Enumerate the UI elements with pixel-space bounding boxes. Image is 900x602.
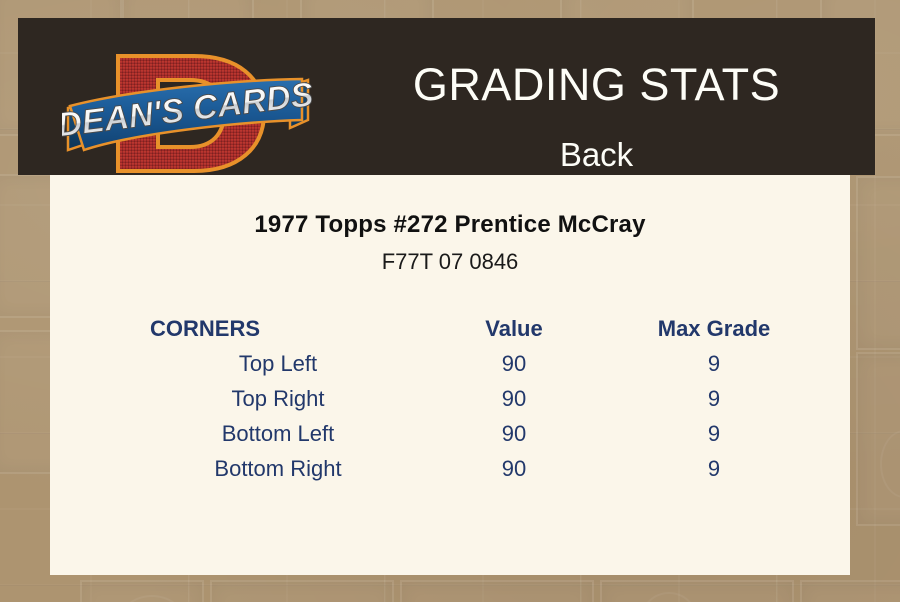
- grading-stats-table: CORNERS Value Max Grade Top Left 90 9 To…: [142, 311, 814, 486]
- row-label: Bottom Right: [142, 451, 414, 486]
- page-title: GRADING STATS: [318, 60, 875, 110]
- row-value: 90: [414, 451, 614, 486]
- card-title: 1977 Topps #272 Prentice McCray: [50, 211, 850, 239]
- background-card-tile: [400, 580, 594, 602]
- table-row: Bottom Right 90 9: [142, 451, 814, 486]
- column-header-value: Value: [414, 311, 614, 346]
- table-row: Top Left 90 9: [142, 346, 814, 381]
- background-card-tile: [856, 176, 900, 350]
- row-label: Bottom Left: [142, 416, 414, 451]
- row-max-grade: 9: [614, 451, 814, 486]
- row-max-grade: 9: [614, 416, 814, 451]
- background-card-tile: [210, 580, 394, 602]
- card-serial-number: F77T 07 0846: [50, 249, 850, 275]
- row-label: Top Right: [142, 381, 414, 416]
- table-row: Bottom Left 90 9: [142, 416, 814, 451]
- row-max-grade: 9: [614, 381, 814, 416]
- column-header-corners: CORNERS: [142, 311, 414, 346]
- row-value: 90: [414, 381, 614, 416]
- row-value: 90: [414, 346, 614, 381]
- content-panel: 1977 Topps #272 Prentice McCray F77T 07 …: [50, 175, 850, 575]
- page-subtitle: Back: [318, 136, 875, 174]
- background-card-tile: [800, 580, 900, 602]
- grading-stats-page: DEAN'S CARDS GRADING STATS Back 1977 Top…: [0, 0, 900, 602]
- table-header-row: CORNERS Value Max Grade: [142, 311, 814, 346]
- header-band: DEAN'S CARDS GRADING STATS Back: [18, 18, 875, 175]
- background-card-tile: [600, 580, 794, 602]
- row-label: Top Left: [142, 346, 414, 381]
- deans-cards-logo: DEAN'S CARDS: [62, 46, 312, 181]
- table-row: Top Right 90 9: [142, 381, 814, 416]
- row-value: 90: [414, 416, 614, 451]
- row-max-grade: 9: [614, 346, 814, 381]
- column-header-max-grade: Max Grade: [614, 311, 814, 346]
